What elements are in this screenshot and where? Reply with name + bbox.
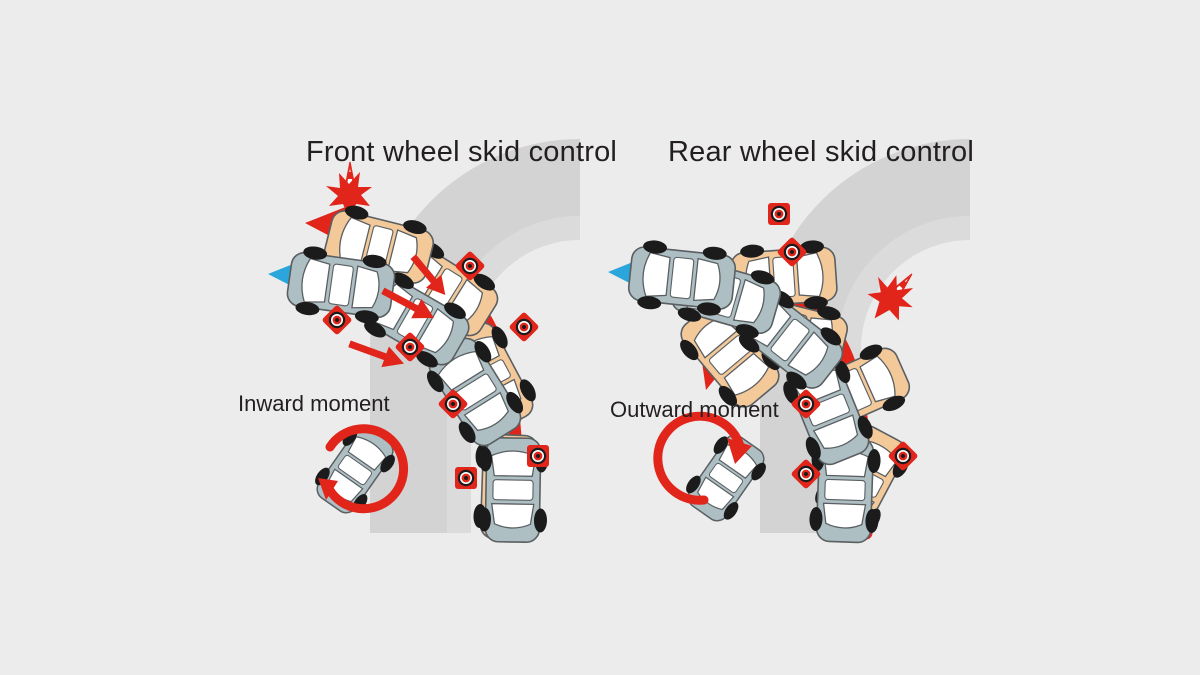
panel-title-front-wheel: Front wheel skid control <box>306 136 617 169</box>
brake-marker <box>527 445 549 467</box>
inward-moment-label: Inward moment <box>238 391 390 417</box>
skid-control-illustration <box>0 0 1200 675</box>
brake-marker <box>768 203 790 225</box>
brake-marker <box>455 467 477 489</box>
outward-moment-label: Outward moment <box>610 397 779 423</box>
outward-moment-icon <box>658 416 774 529</box>
diagram-canvas: Front wheel skid control Rear wheel skid… <box>0 0 1200 675</box>
panel-title-rear-wheel: Rear wheel skid control <box>668 136 974 169</box>
